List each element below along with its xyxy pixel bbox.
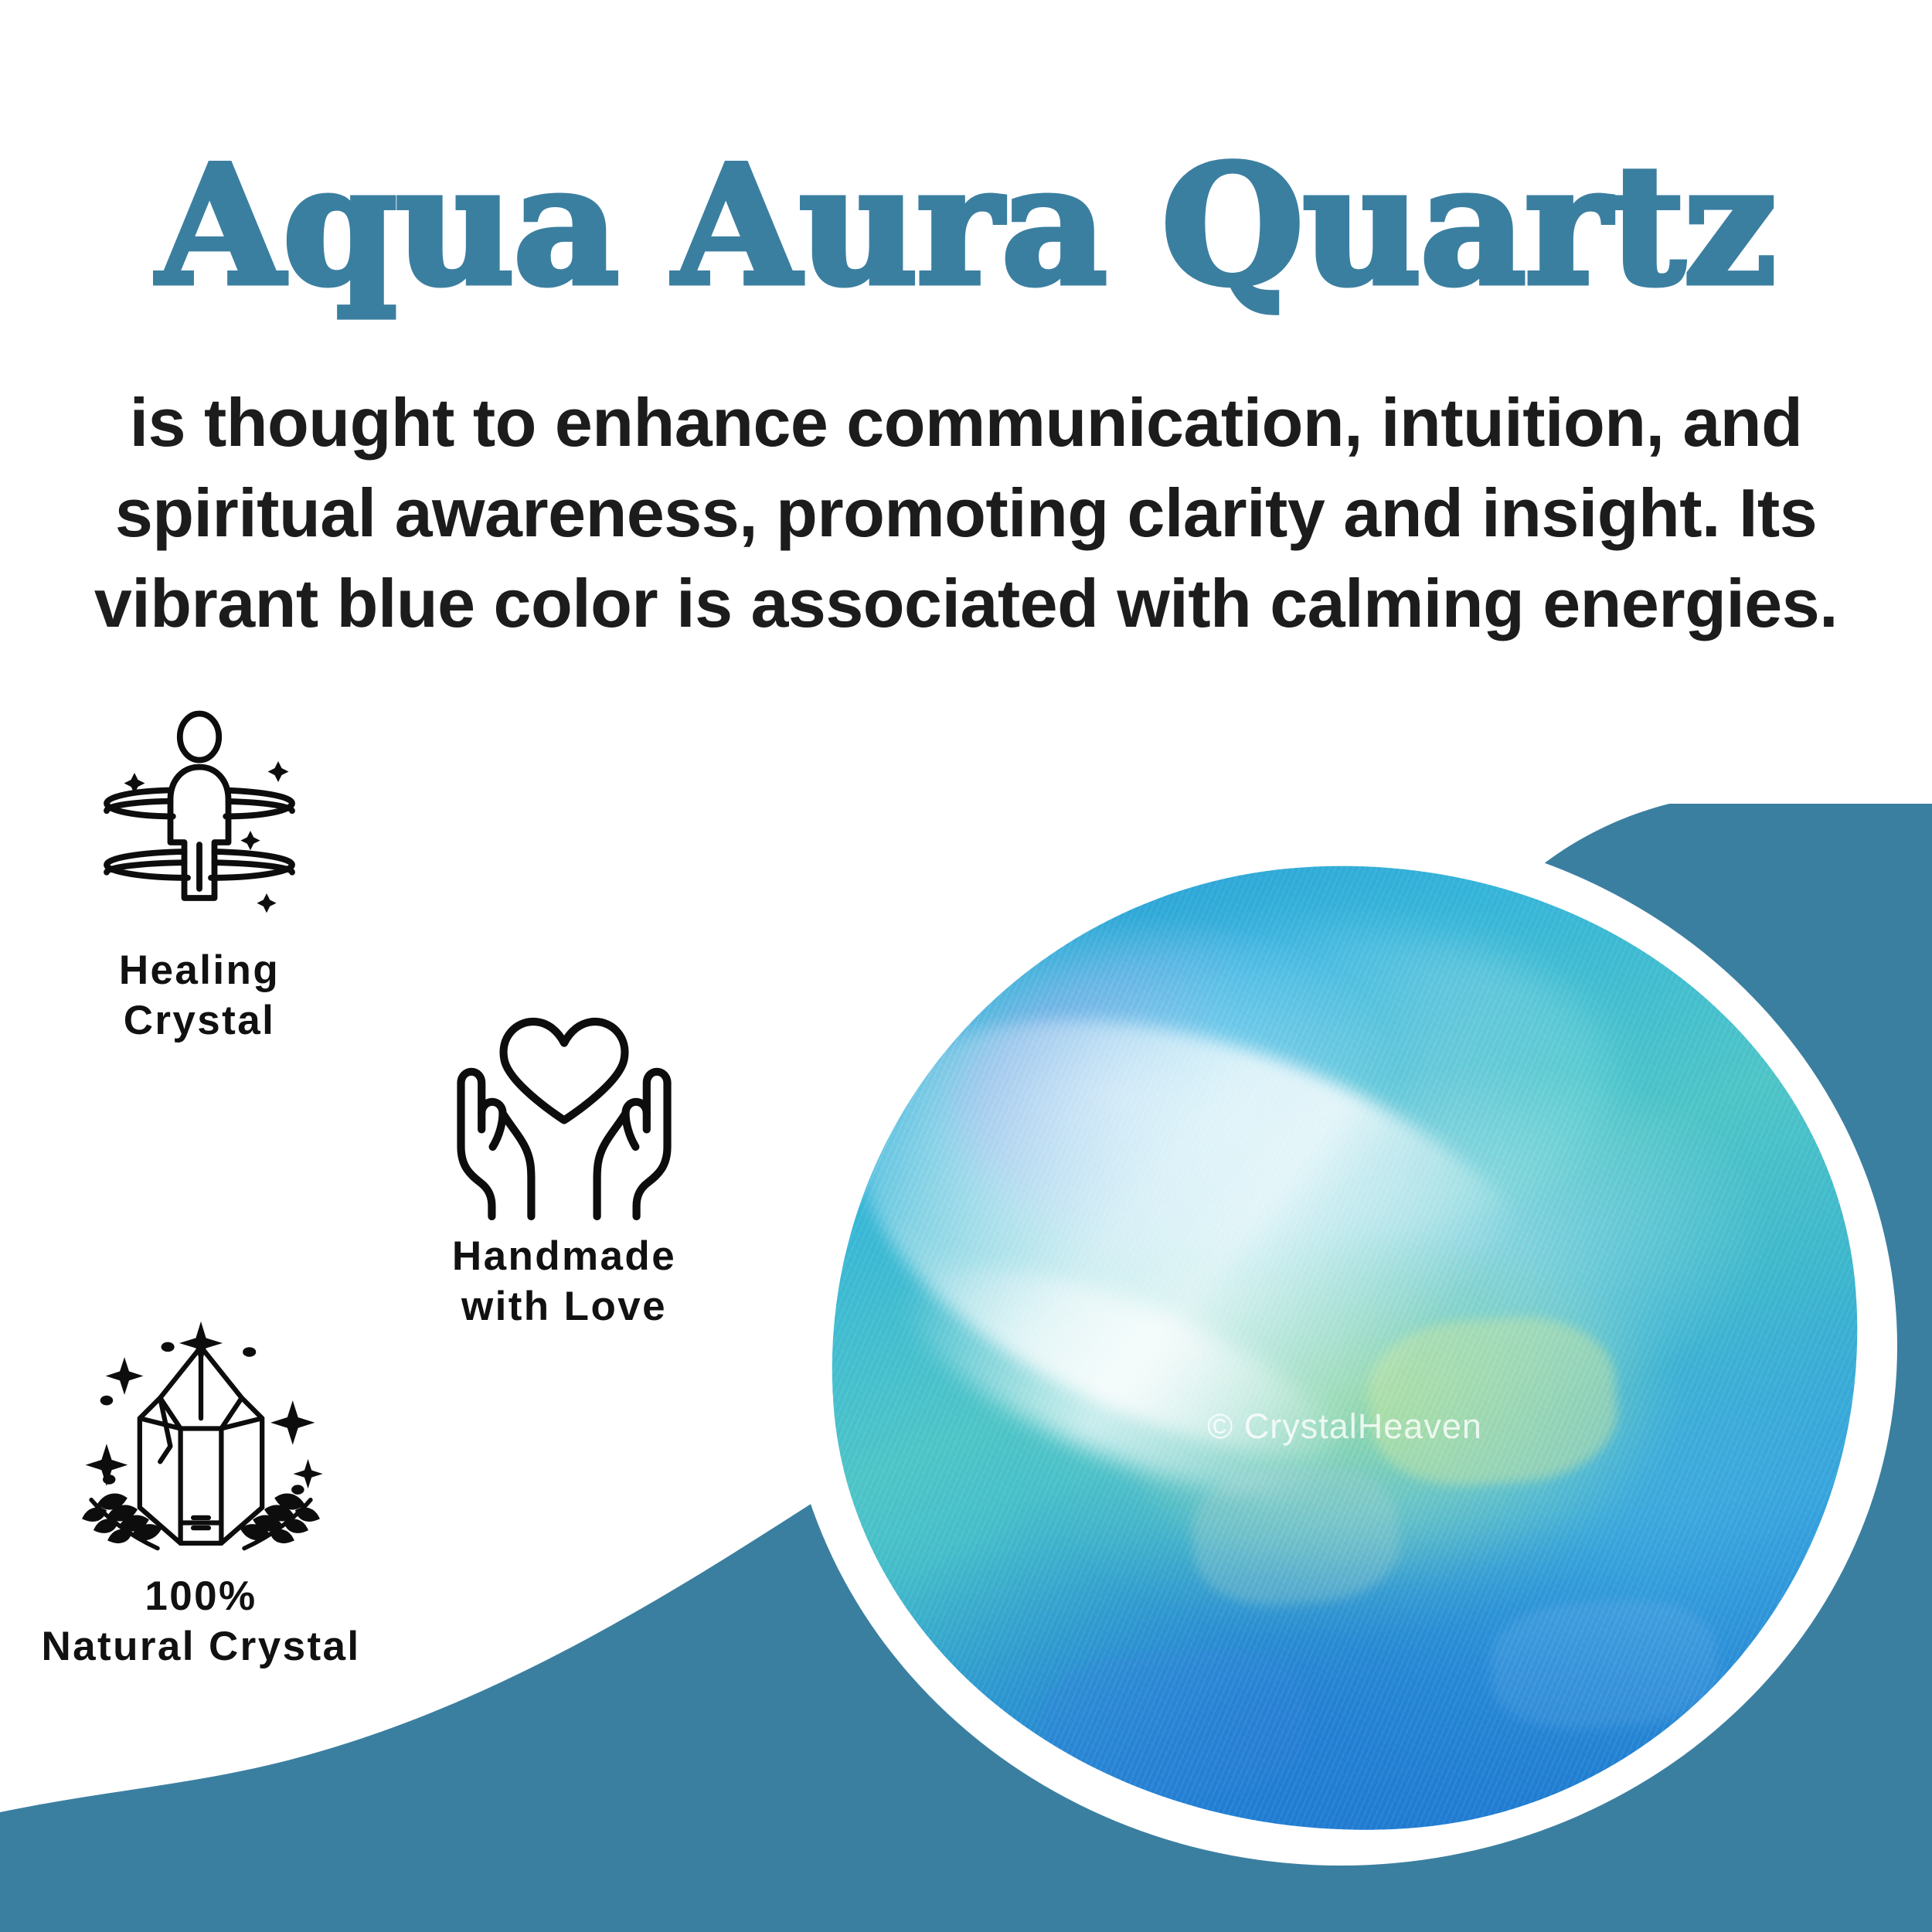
stone-green-core	[1112, 1230, 1668, 1595]
badge-natural-crystal-label: 100% Natural Crystal	[15, 1572, 386, 1672]
stone-facet	[1487, 1594, 1721, 1736]
stone-highlight-secondary	[883, 1223, 1379, 1543]
badge-natural-crystal: 100% Natural Crystal	[15, 1314, 386, 1672]
stone-facet	[1189, 1461, 1403, 1611]
badge-handmade-with-love-label: Handmade with Love	[402, 1232, 726, 1332]
badge-handmade-with-love: Handmade with Love	[402, 1012, 726, 1332]
stone-iridescence	[946, 904, 1625, 1277]
badge-healing-crystal: Healing Crystal	[37, 703, 362, 1046]
page-title: Aqua Aura Quartz	[0, 142, 1932, 309]
badge-healing-crystal-label: Healing Crystal	[37, 946, 362, 1046]
stone-facet	[1364, 1311, 1621, 1492]
stone-bottom-shadow	[844, 1486, 1891, 1866]
description-paragraph: is thought to enhance communication, int…	[85, 377, 1847, 648]
sparkle-icon	[86, 1321, 323, 1495]
aqua-aura-quartz-stone	[798, 831, 1891, 1866]
poster-canvas: Aqua Aura Quartz is thought to enhance c…	[0, 0, 1932, 1932]
stone-facet	[1037, 1642, 1314, 1805]
hands-holding-heart-icon	[448, 1012, 680, 1221]
sparkle-icon	[124, 761, 289, 913]
stone-highlight	[800, 934, 1628, 1549]
product-image: © CrystalHeaven	[831, 866, 1859, 1832]
crystal-point-laurel-icon	[73, 1314, 328, 1561]
aura-figure-icon	[83, 703, 315, 935]
